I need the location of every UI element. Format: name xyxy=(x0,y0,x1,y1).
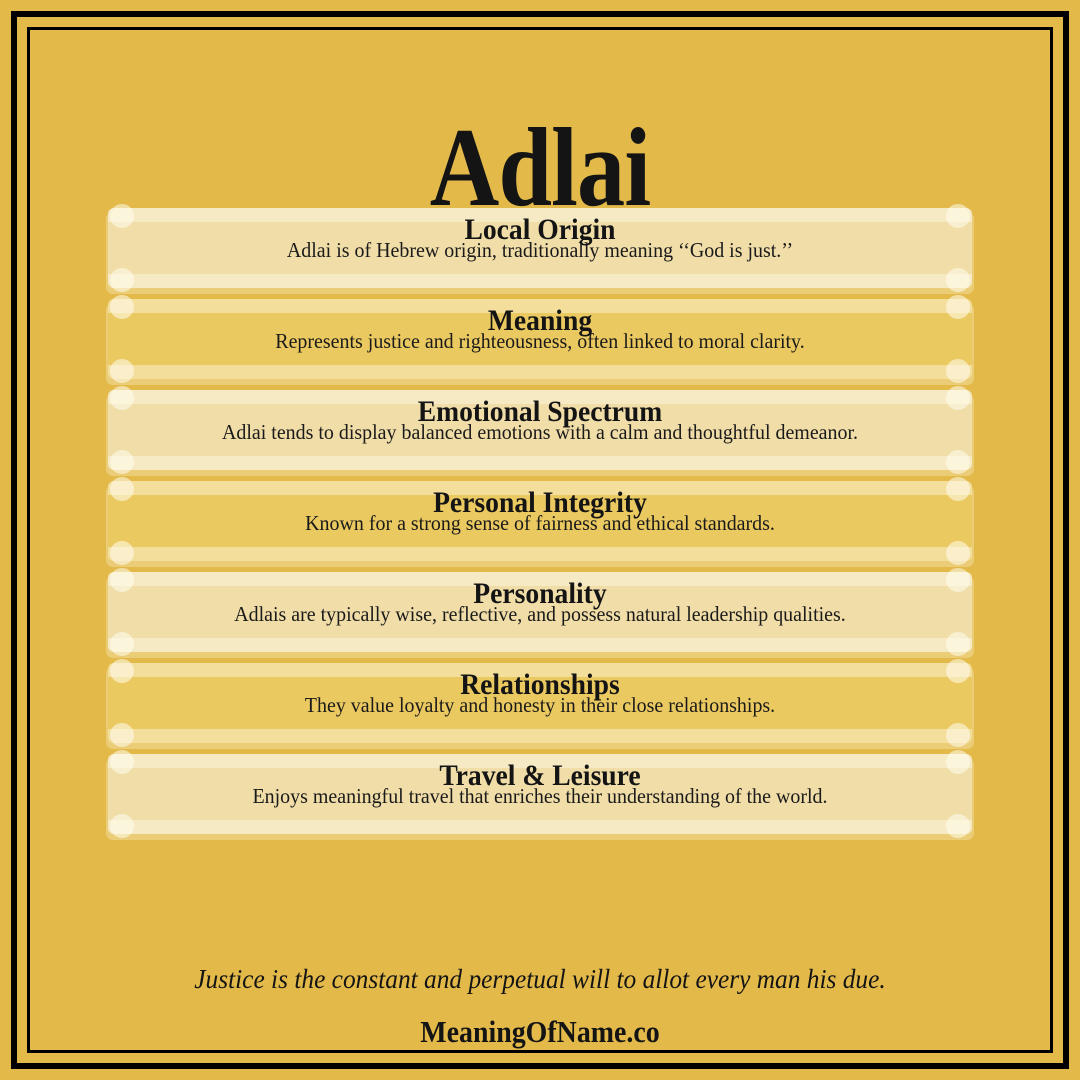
card-description: Enjoys meaningful travel that enriches t… xyxy=(151,784,930,808)
name-meaning-poster: Adlai Local OriginAdlai is of Hebrew ori… xyxy=(0,0,1080,1080)
card-text: Emotional SpectrumAdlai tends to display… xyxy=(130,390,950,444)
card-description: Adlai tends to display balanced emotions… xyxy=(151,420,930,444)
brand-name: MeaningOfName.co xyxy=(54,1013,1026,1050)
attribute-card: Personal IntegrityKnown for a strong sen… xyxy=(108,481,972,561)
card-text: Travel & LeisureEnjoys meaningful travel… xyxy=(130,754,950,808)
card-text: RelationshipsThey value loyalty and hone… xyxy=(130,663,950,717)
attribute-card: RelationshipsThey value loyalty and hone… xyxy=(108,663,972,743)
attribute-card: Local OriginAdlai is of Hebrew origin, t… xyxy=(108,208,972,288)
card-description: Represents justice and righteousness, of… xyxy=(151,329,930,353)
card-description: Adlais are typically wise, reflective, a… xyxy=(151,602,930,626)
card-description: They value loyalty and honesty in their … xyxy=(151,693,930,717)
attribute-card: Emotional SpectrumAdlai tends to display… xyxy=(108,390,972,470)
card-description: Known for a strong sense of fairness and… xyxy=(151,511,930,535)
card-text: Local OriginAdlai is of Hebrew origin, t… xyxy=(130,208,950,262)
attribute-card: Travel & LeisureEnjoys meaningful travel… xyxy=(108,754,972,834)
attribute-card: PersonalityAdlais are typically wise, re… xyxy=(108,572,972,652)
card-text: MeaningRepresents justice and righteousn… xyxy=(130,299,950,353)
card-text: PersonalityAdlais are typically wise, re… xyxy=(130,572,950,626)
attribute-card-list: Local OriginAdlai is of Hebrew origin, t… xyxy=(108,208,972,845)
card-description: Adlai is of Hebrew origin, traditionally… xyxy=(151,238,930,262)
card-text: Personal IntegrityKnown for a strong sen… xyxy=(130,481,950,535)
footer-quote: Justice is the constant and perpetual wi… xyxy=(89,963,991,995)
attribute-card: MeaningRepresents justice and righteousn… xyxy=(108,299,972,379)
